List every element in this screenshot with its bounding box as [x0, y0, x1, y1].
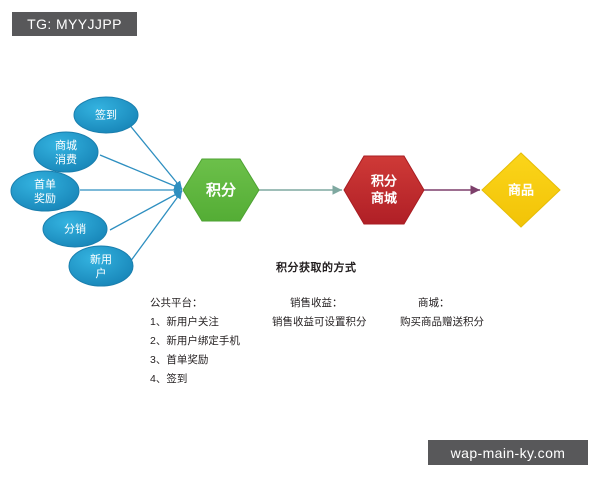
node-goods-label: 商品 [508, 182, 534, 197]
list-item: 3、首单奖励 [150, 351, 240, 370]
node-mall-spend[interactable]: 商城 消费 [34, 132, 98, 172]
list-item: 4、签到 [150, 370, 240, 389]
column-mall-heading: 商城： [400, 294, 484, 313]
list-item: 销售收益可设置积分 [272, 313, 367, 332]
node-mall-spend-label-line1: 商城 [55, 138, 77, 152]
column-sales-revenue: 销售收益： 销售收益可设置积分 [272, 294, 367, 332]
flow-diagram: 签到 商城 消费 首单 奖励 分销 新用 户 积分 积分 商城 商品 [0, 0, 600, 480]
column-public-platform: 公共平台： 1、新用户关注 2、新用户绑定手机 3、首单奖励 4、签到 [150, 294, 240, 389]
node-distribute-label: 分销 [64, 221, 86, 235]
node-points-mall-label-line1: 积分 [371, 173, 397, 188]
list-item: 购买商品赠送积分 [400, 313, 484, 332]
watermark-top: TG: MYYJJPP [12, 12, 137, 36]
node-first-order[interactable]: 首单 奖励 [11, 171, 79, 211]
node-sign-in-label: 签到 [95, 107, 117, 121]
node-points[interactable]: 积分 [183, 159, 259, 221]
node-points-mall[interactable]: 积分 商城 [344, 156, 424, 224]
column-public-platform-heading: 公共平台： [150, 294, 240, 313]
node-new-user-label-line2: 户 [96, 266, 107, 280]
node-new-user[interactable]: 新用 户 [69, 246, 133, 286]
connector-sign-in-to-points [128, 123, 182, 189]
connector-mall-spend-to-points [100, 155, 182, 189]
column-sales-revenue-heading: 销售收益： [272, 294, 367, 313]
watermark-bottom: wap-main-ky.com [428, 440, 588, 465]
node-points-mall-label-line2: 商城 [371, 190, 397, 205]
connector-distribute-to-points [110, 191, 182, 230]
list-item: 2、新用户绑定手机 [150, 332, 240, 351]
node-new-user-label-line1: 新用 [90, 252, 112, 266]
column-mall: 商城： 购买商品赠送积分 [400, 294, 484, 332]
list-item: 1、新用户关注 [150, 313, 240, 332]
node-goods[interactable]: 商品 [482, 153, 560, 227]
connector-new-user-to-points [130, 191, 182, 262]
node-first-order-label-line2: 奖励 [34, 191, 56, 205]
node-first-order-label-line1: 首单 [34, 177, 56, 191]
node-distribute[interactable]: 分销 [43, 211, 107, 247]
node-sign-in[interactable]: 签到 [74, 97, 138, 133]
node-mall-spend-label-line2: 消费 [55, 152, 77, 166]
node-points-label: 积分 [206, 181, 236, 199]
diagram-caption: 积分获取的方式 [276, 259, 357, 275]
